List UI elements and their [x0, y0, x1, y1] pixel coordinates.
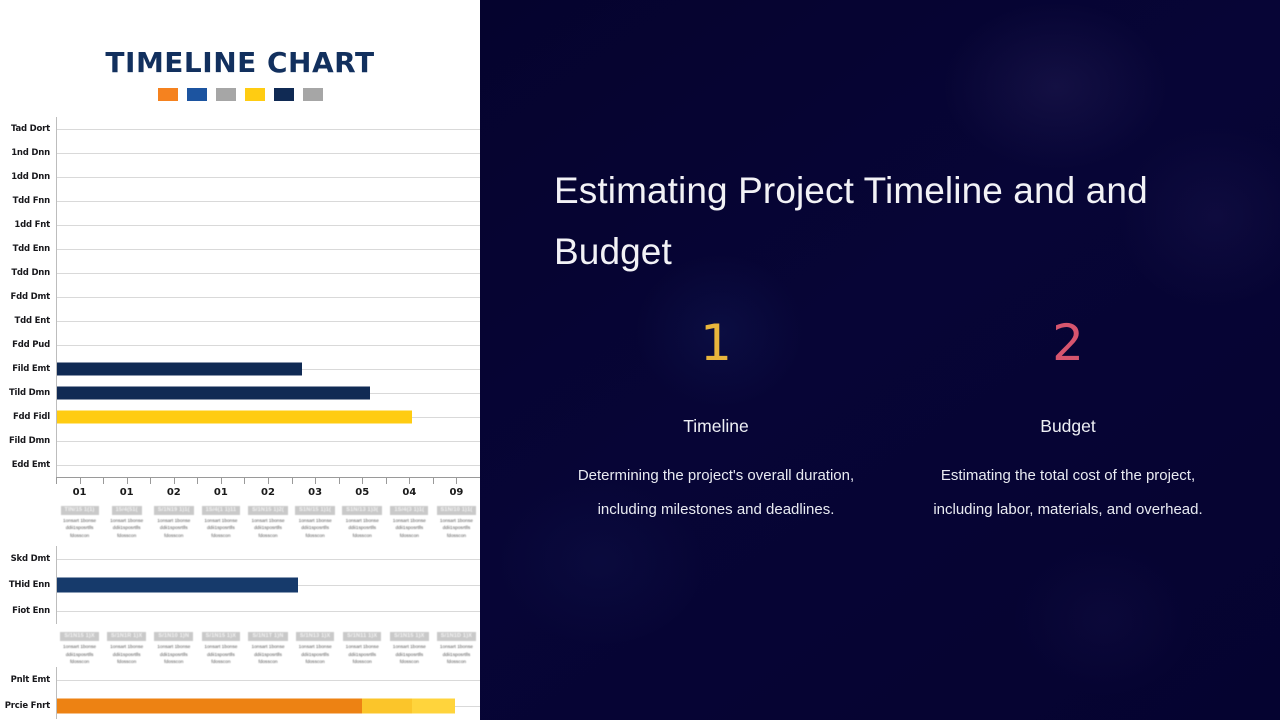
milestone-card: S/1N15 1)X1onsart 1bonse ddii1sposrtlls …: [56, 624, 103, 666]
column-title: Budget: [910, 416, 1226, 437]
milestone-card-body: 1onsart 1bonse ddii1sposrtlls fdosscon: [152, 644, 195, 666]
chart-row-label: Fdd Dmt: [0, 292, 56, 302]
milestone-card-chip: S/1N13 1)X: [296, 632, 334, 641]
chart-row-track: [56, 309, 480, 333]
column-title: Timeline: [558, 416, 874, 437]
lower-chart-rows: Skd DmtTHid EnnFiot EnnS/1N15 1)X1onsart…: [0, 546, 480, 720]
milestone-card-body: 1onsart 1bonse ddii1sposrtlls fdosscon: [388, 644, 431, 666]
chart-row-track: [56, 141, 480, 165]
chart-row-track: [56, 285, 480, 309]
chart-row: Pnlt Emt: [0, 667, 480, 693]
milestone-card-chip: S/1N11 1)X: [343, 632, 381, 641]
milestone-card-body: 1onsart 1bonse ddii1sposrtlls fdosscon: [341, 518, 384, 540]
chart-row: Prcie Fnrt: [0, 693, 480, 719]
chart-row-track: [56, 165, 480, 189]
chart-row-label: 1nd Dnn: [0, 148, 56, 158]
axis-tick: [56, 478, 57, 484]
milestone-card-chip: S/1N15 1)X: [60, 632, 98, 641]
upper-chart-card-strip: TIN/15 1(1)1onsart 1bonse ddii1sposrtlls…: [56, 498, 480, 540]
chart-row-track: [56, 357, 480, 381]
chart-row-track: [56, 237, 480, 261]
milestone-card: S/1N1D 1)X1onsart 1bonse ddii1sposrtlls …: [433, 624, 480, 666]
axis-tick: [244, 478, 245, 484]
milestone-card-body: 1onsart 1bonse ddii1sposrtlls fdosscon: [341, 644, 384, 666]
chart-row: THid Enn: [0, 572, 480, 598]
chart-legend: [0, 88, 480, 101]
milestone-card-chip: 15/4(51(: [112, 506, 142, 515]
chart-row: 1dd Dnn: [0, 165, 480, 189]
swatch-orange: [158, 88, 178, 101]
chart-row: Edd Emt: [0, 453, 480, 477]
milestone-card-chip: S/1N10 1)N: [154, 632, 193, 641]
milestone-card: S/1N19 1)1(1onsart 1bonse ddii1sposrtlls…: [150, 498, 197, 540]
milestone-card-body: 1onsart 1bonse ddii1sposrtlls fdosscon: [199, 518, 242, 540]
axis-tick: [292, 478, 293, 484]
milestone-card: S/1N15 1)2(1onsart 1bonse ddii1sposrtlls…: [244, 498, 291, 540]
chart-row-track: [56, 405, 480, 429]
chart-row-track: [56, 546, 480, 572]
milestone-card: 15/4(51(1onsart 1bonse ddii1sposrtlls fd…: [103, 498, 150, 540]
chart-row-track: [56, 453, 480, 477]
axis-tick: [80, 478, 81, 484]
axis-number: 02: [150, 487, 197, 498]
milestone-card-chip: S/1N15 1)X: [390, 632, 428, 641]
content-panel: Estimating Project Timeline and and Budg…: [480, 0, 1280, 720]
chart-row-track: [56, 693, 480, 719]
chart-row-track: [56, 189, 480, 213]
axis-tick: [456, 478, 457, 484]
chart-row: Tdd Fnn: [0, 189, 480, 213]
chart-row: Tild Dmn: [0, 381, 480, 405]
chart-row: Skd Dmt: [0, 546, 480, 572]
milestone-card-chip: S/1N15 1)2(: [248, 506, 288, 515]
milestone-card-body: 1onsart 1bonse ddii1sposrtlls fdosscon: [246, 518, 289, 540]
swatch-navy: [274, 88, 294, 101]
column-description: Estimating the total cost of the project…: [910, 459, 1226, 527]
upper-chart-tick-strip: [56, 477, 480, 485]
chart-row-label: Tdd Enn: [0, 244, 56, 254]
axis-tick: [386, 478, 387, 484]
upper-chart-rows: Tad Dort1nd Dnn1dd DnnTdd Fnn1dd FntTdd …: [0, 117, 480, 477]
chart-bar: [57, 363, 302, 376]
chart-row-label: Fild Emt: [0, 364, 56, 374]
milestone-card-body: 1onsart 1bonse ddii1sposrtlls fdosscon: [388, 518, 431, 540]
lower-timeline-chart: Skd DmtTHid EnnFiot EnnS/1N15 1)X1onsart…: [0, 546, 480, 720]
milestone-card-body: 1onsart 1bonse ddii1sposrtlls fdosscon: [246, 644, 289, 666]
chart-row-label: Tdd Ent: [0, 316, 56, 326]
axis-tick: [174, 478, 175, 484]
milestone-card: TIN/15 1(1)1onsart 1bonse ddii1sposrtlls…: [56, 498, 103, 540]
chart-row-label: Skd Dmt: [0, 554, 56, 564]
slide-chart-panel: TIMELINE CHART Tad Dort1nd Dnn1dd DnnTdd…: [0, 0, 480, 720]
milestone-card-chip: S/1N1T 1)N: [248, 632, 287, 641]
axis-tick: [409, 478, 410, 484]
axis-number: 01: [56, 487, 103, 498]
lower-card-strip-1: S/1N15 1)X1onsart 1bonse ddii1sposrtlls …: [56, 624, 480, 666]
milestone-card: S/1N10 1)N1onsart 1bonse ddii1sposrtlls …: [150, 624, 197, 666]
milestone-card-chip: S/1N1R 1)X: [107, 632, 146, 641]
content-column-1: 1TimelineDetermining the project's overa…: [540, 318, 892, 527]
milestone-card-body: 1onsart 1bonse ddii1sposrtlls fdosscon: [435, 518, 478, 540]
milestone-card-chip: 1S/4(3 1)1(: [390, 506, 428, 515]
axis-number: 02: [244, 487, 291, 498]
swatch-blue: [187, 88, 207, 101]
chart-row: Fiot Enn: [0, 598, 480, 624]
chart-row-label: Pnlt Emt: [0, 675, 56, 685]
milestone-card: S/1N1R 1)X1onsart 1bonse ddii1sposrtlls …: [103, 624, 150, 666]
chart-row-label: Fiot Enn: [0, 606, 56, 616]
milestone-card-body: 1onsart 1bonse ddii1sposrtlls fdosscon: [199, 644, 242, 666]
axis-tick: [150, 478, 151, 484]
chart-row-label: Fdd Pud: [0, 340, 56, 350]
chart-row: Tad Dort: [0, 117, 480, 141]
chart-row-track: [56, 117, 480, 141]
chart-row: Tdd Dnn: [0, 261, 480, 285]
chart-row-track: [56, 572, 480, 598]
chart-row-label: THid Enn: [0, 580, 56, 590]
milestone-card-chip: S1N/10 1)1(: [437, 506, 477, 515]
column-description: Determining the project's overall durati…: [558, 459, 874, 527]
chart-row-label: Tdd Fnn: [0, 196, 56, 206]
upper-chart-number-strip: 010102010203050409: [56, 487, 480, 498]
chart-bar: [57, 578, 298, 593]
chart-row: Fdd Pud: [0, 333, 480, 357]
chart-row-track: [56, 213, 480, 237]
chart-bar: [412, 698, 454, 713]
milestone-card: S/1N1T 1)N1onsart 1bonse ddii1sposrtlls …: [244, 624, 291, 666]
chart-row-label: Tild Dmn: [0, 388, 56, 398]
chart-row-track: [56, 381, 480, 405]
milestone-card: S/1N13 1)X1onsart 1bonse ddii1sposrtlls …: [292, 624, 339, 666]
axis-tick: [362, 478, 363, 484]
axis-tick: [268, 478, 269, 484]
milestone-card-chip: S/1N19 1)1(: [154, 506, 194, 515]
chart-row-label: Prcie Fnrt: [0, 701, 56, 711]
chart-row-label: 1dd Dnn: [0, 172, 56, 182]
milestone-card-body: 1onsart 1bonse ddii1sposrtlls fdosscon: [435, 644, 478, 666]
milestone-card: S/1N11 1)X1onsart 1bonse ddii1sposrtlls …: [339, 624, 386, 666]
milestone-card-chip: TIN/15 1(1): [61, 506, 99, 515]
milestone-card-body: 1onsart 1bonse ddii1sposrtlls fdosscon: [152, 518, 195, 540]
chart-row: Fild Dmn: [0, 429, 480, 453]
chart-row-track: [56, 667, 480, 693]
chart-row-label: Fdd Fidl: [0, 412, 56, 422]
swatch-gray-2: [303, 88, 323, 101]
chart-row: Fild Emt: [0, 357, 480, 381]
axis-tick: [221, 478, 222, 484]
milestone-card: S1N/13 1)3(1onsart 1bonse ddii1sposrtlls…: [339, 498, 386, 540]
page-title: TIMELINE CHART: [0, 46, 480, 79]
milestone-card: S1N/10 1)1(1onsart 1bonse ddii1sposrtlls…: [433, 498, 480, 540]
chart-row: Fdd Fidl: [0, 405, 480, 429]
chart-row-label: Tdd Dnn: [0, 268, 56, 278]
axis-tick: [103, 478, 104, 484]
content-column-2: 2BudgetEstimating the total cost of the …: [892, 318, 1244, 527]
chart-bar: [57, 698, 362, 713]
upper-timeline-chart: Tad Dort1nd Dnn1dd DnnTdd Fnn1dd FntTdd …: [0, 117, 480, 540]
chart-row: Tdd Enn: [0, 237, 480, 261]
milestone-card-body: 1onsart 1bonse ddii1sposrtlls fdosscon: [105, 644, 148, 666]
axis-number: 05: [339, 487, 386, 498]
milestone-card-chip: 1S/4(1 1)11: [202, 506, 241, 515]
milestone-card-chip: S1N/15 1)1(: [295, 506, 335, 515]
axis-tick: [433, 478, 434, 484]
chart-row-label: 1dd Fnt: [0, 220, 56, 230]
swatch-yellow: [245, 88, 265, 101]
axis-number: 04: [386, 487, 433, 498]
axis-tick: [315, 478, 316, 484]
milestone-card-body: 1onsart 1bonse ddii1sposrtlls fdosscon: [58, 518, 101, 540]
chart-row-track: [56, 333, 480, 357]
axis-number: 01: [103, 487, 150, 498]
milestone-card-body: 1onsart 1bonse ddii1sposrtlls fdosscon: [294, 644, 337, 666]
axis-number: 01: [197, 487, 244, 498]
section-heading: Estimating Project Timeline and and Budg…: [554, 160, 1214, 282]
column-number: 2: [910, 318, 1226, 368]
milestone-card-body: 1onsart 1bonse ddii1sposrtlls fdosscon: [58, 644, 101, 666]
axis-tick: [127, 478, 128, 484]
chart-row-label: Fild Dmn: [0, 436, 56, 446]
milestone-card-body: 1onsart 1bonse ddii1sposrtlls fdosscon: [105, 518, 148, 540]
chart-row: Fdd Dmt: [0, 285, 480, 309]
milestone-card: 1S/4(1 1)111onsart 1bonse ddii1sposrtlls…: [197, 498, 244, 540]
chart-bar: [57, 387, 370, 400]
milestone-card: S/1N15 1)X1onsart 1bonse ddii1sposrtlls …: [386, 624, 433, 666]
milestone-card: S/1N15 1)X1onsart 1bonse ddii1sposrtlls …: [197, 624, 244, 666]
milestone-card-body: 1onsart 1bonse ddii1sposrtlls fdosscon: [294, 518, 337, 540]
numbered-columns: 1TimelineDetermining the project's overa…: [540, 318, 1244, 527]
column-number: 1: [558, 318, 874, 368]
milestone-card-chip: S/1N1D 1)X: [437, 632, 476, 641]
milestone-card-chip: S1N/13 1)3(: [342, 506, 382, 515]
axis-number: 03: [292, 487, 339, 498]
chart-row: Tdd Ent: [0, 309, 480, 333]
milestone-card: S1N/15 1)1(1onsart 1bonse ddii1sposrtlls…: [292, 498, 339, 540]
chart-row-track: [56, 598, 480, 624]
axis-tick: [197, 478, 198, 484]
swatch-gray: [216, 88, 236, 101]
chart-bar: [362, 698, 413, 713]
chart-row: 1nd Dnn: [0, 141, 480, 165]
chart-row-track: [56, 261, 480, 285]
chart-row-track: [56, 429, 480, 453]
axis-number: 09: [433, 487, 480, 498]
chart-row-label: Tad Dort: [0, 124, 56, 134]
chart-bar: [57, 411, 412, 424]
chart-row: 1dd Fnt: [0, 213, 480, 237]
chart-row-label: Edd Emt: [0, 460, 56, 470]
milestone-card-chip: S/1N15 1)X: [202, 632, 240, 641]
milestone-card: 1S/4(3 1)1(1onsart 1bonse ddii1sposrtlls…: [386, 498, 433, 540]
axis-tick: [339, 478, 340, 484]
